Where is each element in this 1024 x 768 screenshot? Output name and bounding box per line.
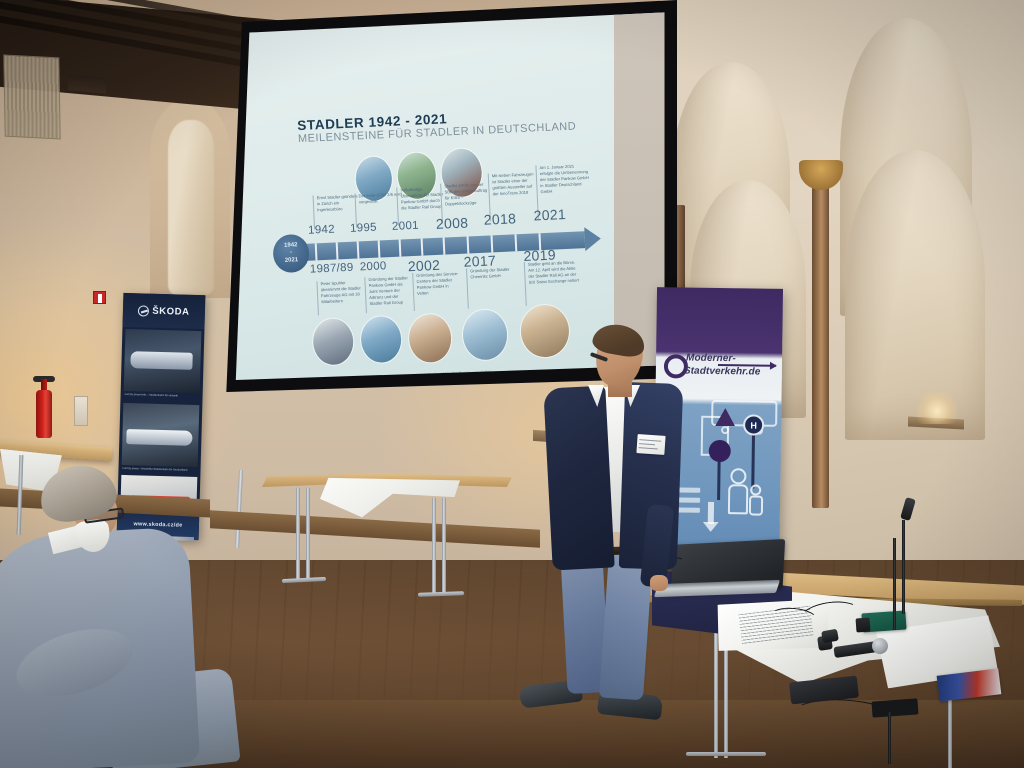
timeline-range-badge: 1942 - 2021 (272, 234, 310, 274)
timeline-year-2008: 2008 (436, 214, 469, 231)
microphone-stand-pole-lower (893, 538, 896, 630)
presenter-person (520, 325, 690, 725)
table-leg (306, 488, 310, 580)
msv-line-2: Stadtverkehr.de (684, 366, 761, 378)
wall-statue (168, 120, 214, 295)
slide-caption-bottom-1: Peter Spuhler übernimmt die Stadler Fahr… (317, 279, 364, 305)
timeline-range-dash: - (290, 250, 292, 258)
slide-caption-bottom-5: Stadler geht an die Börse. Am 12. April … (525, 259, 582, 285)
sign-pole (751, 428, 755, 488)
timeline-year-1987-89: 1987/89 (310, 262, 354, 276)
slide-portrait-1987 (312, 318, 354, 366)
slide-caption-top-2: Der erste GTW 2/6 wird vorgestellt (355, 191, 401, 205)
skoda-logo-header: ŠKODA (122, 293, 205, 329)
arch-lower-right (845, 150, 985, 440)
audience-person (0, 466, 248, 768)
adult-body-icon (728, 484, 748, 514)
timeline-year-2021: 2021 (533, 206, 566, 223)
slide-image-2000 (360, 316, 402, 364)
slide-caption-top-4: Stadler erhält von der SBB den ersten Au… (441, 182, 488, 208)
skoda-brand-label: ŠKODA (152, 305, 190, 317)
child-figure-icon (750, 484, 761, 495)
ceiling-speaker (68, 74, 106, 93)
timeline-arrow-icon (584, 226, 601, 251)
audience-suit-jacket (0, 527, 200, 768)
microphone-stand-pole (902, 520, 905, 614)
audio-mixer-panel (856, 618, 871, 633)
microphone-stand-pole-right (888, 712, 891, 764)
presenter-hand (650, 575, 668, 591)
presenter-name-badge (636, 434, 665, 455)
presenter-jacket-left (543, 386, 614, 571)
slide-caption-top-6: Am 1. Januar 2021 erfolgte die Umbenennu… (536, 163, 589, 195)
skoda-tram-photo-2 (122, 403, 200, 467)
timeline-year-2018: 2018 (483, 210, 516, 227)
timeline-range-end: 2021 (285, 257, 299, 265)
ventilation-grille (3, 54, 60, 139)
fire-extinguisher-icon (36, 390, 52, 438)
tree-trunk (717, 458, 721, 500)
skoda-caption-1: ForCity Smart Artic – Straßenbahn für He… (125, 393, 195, 399)
bus-stop-letter: H (750, 420, 757, 430)
table-leg (442, 498, 446, 594)
timeline-year-2000: 2000 (360, 260, 387, 273)
timeline-year-1942: 1942 (308, 224, 335, 237)
table-leg (296, 488, 300, 580)
slide-caption-top-1: Ernst Stadler gründete in Zürich ein Ing… (314, 193, 361, 213)
tree-icon (709, 440, 731, 462)
slide-image-2017 (462, 309, 508, 361)
table-leg (432, 498, 436, 594)
msv-line-1: Moderner- (686, 353, 736, 365)
fire-extinguisher-sign-icon (93, 291, 106, 304)
slide-caption-top-3: Vollständige Übernahme der Stadler Panko… (397, 186, 444, 212)
skoda-winged-arrow-icon (138, 305, 149, 316)
skoda-tram-photo-1 (124, 329, 202, 393)
down-arrow-icon (708, 502, 714, 524)
timeline-year-1995: 1995 (350, 222, 377, 235)
photo-scene: STADLER 1942 - 2021 MEILENSTEINE FÜR STA… (0, 0, 1024, 768)
slide-caption-top-5: Mit sieben Fahrzeugen ist Stadler einer … (489, 171, 536, 197)
slide-caption-bottom-3: Gründung des Service-Centers der Stadler… (413, 271, 460, 297)
slide-image-2002 (408, 313, 452, 363)
microphone-head-icon (872, 638, 888, 654)
child-body-icon (749, 495, 763, 515)
down-arrow-head-icon (703, 522, 719, 532)
wall-plate (74, 396, 88, 426)
slide-caption-bottom-2: Gründung der Stadler Pankow GmbH als Joi… (365, 275, 412, 307)
table-foot (686, 752, 766, 756)
slide-caption-bottom-4: Gründung der Stadler Chemnitz GmbH (467, 266, 513, 280)
stone-column (812, 178, 829, 508)
microphone-stand-base (871, 698, 918, 717)
timeline-year-2001: 2001 (392, 220, 419, 233)
adult-figure-icon (730, 468, 746, 484)
wall-lamp-right (916, 392, 958, 424)
